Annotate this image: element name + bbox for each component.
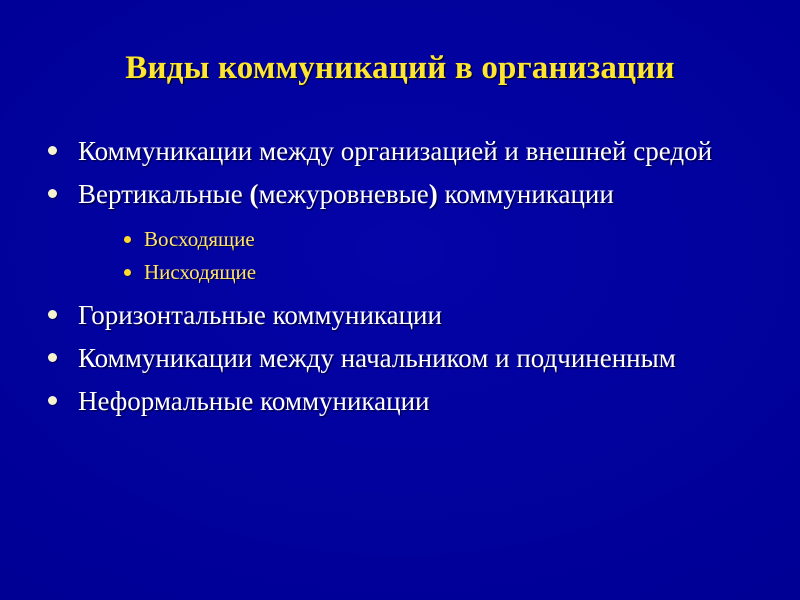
page-title: Виды коммуникаций в организации: [125, 48, 674, 88]
sub-bullet-dot-icon: [124, 258, 144, 276]
sub-bullet-dot-icon: [124, 225, 144, 243]
list-item: Горизонтальные коммуникации: [42, 297, 742, 333]
list-item: Вертикальные (межуровневые) коммуникации: [42, 176, 742, 212]
list-item-label: Коммуникации между организацией и внешне…: [78, 133, 726, 169]
list-item-label: Коммуникации между начальником и подчине…: [78, 340, 726, 376]
list-item-label: Неформальные коммуникации: [78, 383, 726, 419]
list-item-label-part-mid: межуровневые: [258, 179, 428, 209]
sub-list-item-label: Восходящие: [144, 225, 800, 254]
sub-list-item-label: Нисходящие: [144, 258, 800, 287]
list-item-label-part-after: коммуникации: [438, 179, 614, 209]
bullet-dot-icon: [42, 176, 78, 198]
presentation-slide: Виды коммуникаций в организации Коммуник…: [0, 0, 800, 600]
bullet-dot-icon: [42, 383, 78, 405]
list-item-label-paren-close: ): [429, 179, 438, 209]
list-item: Коммуникации между начальником и подчине…: [42, 340, 742, 376]
list-item-label-part-before: Вертикальные: [78, 179, 249, 209]
bullet-dot-icon: [42, 297, 78, 319]
sub-list-item: Восходящие: [42, 225, 800, 254]
list-item-label: Вертикальные (межуровневые) коммуникации: [78, 176, 726, 212]
list-item-label: Горизонтальные коммуникации: [78, 297, 726, 333]
bullet-dot-icon: [42, 133, 78, 155]
slide-title-block: Виды коммуникаций в организации: [0, 48, 800, 88]
slide-bullet-list: Коммуникации между организацией и внешне…: [42, 133, 742, 426]
list-item: Неформальные коммуникации: [42, 383, 742, 419]
list-item: Коммуникации между организацией и внешне…: [42, 133, 742, 169]
bullet-dot-icon: [42, 340, 78, 362]
sub-list-item: Нисходящие: [42, 258, 800, 287]
